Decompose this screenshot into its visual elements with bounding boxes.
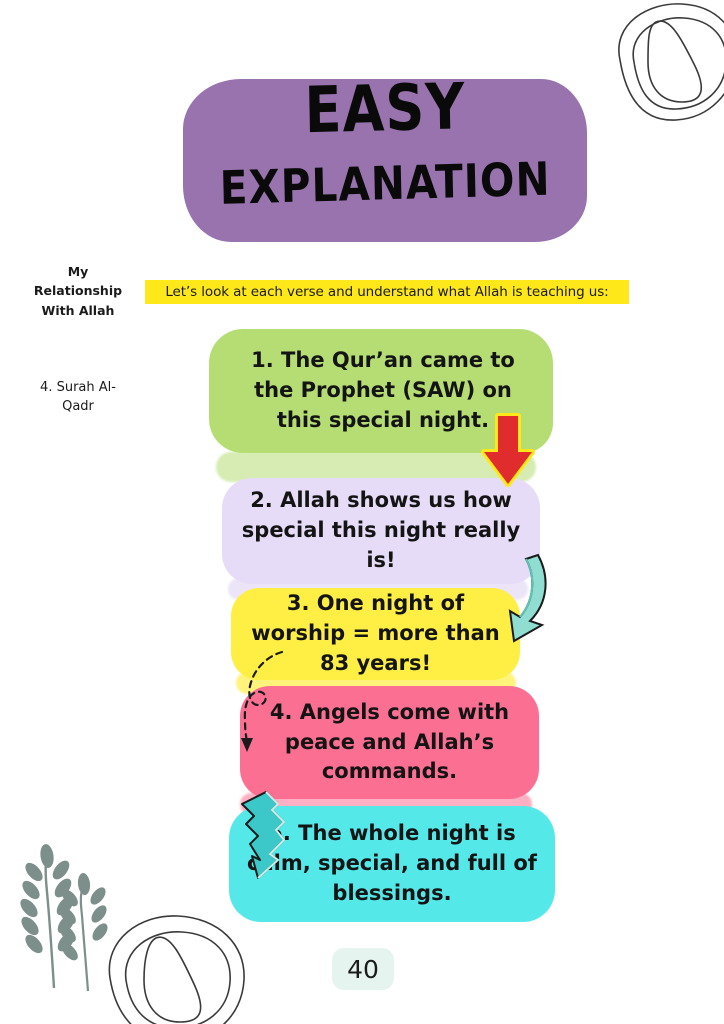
statement-card-2-text: 2. Allah shows us how special this night… bbox=[240, 486, 522, 575]
statement-card-4: 4. Angels come with peace and Allah’s co… bbox=[240, 686, 539, 799]
intro-highlight-text: Let’s look at each verse and understand … bbox=[145, 280, 629, 304]
sidebar-chapter-line-1: 4. Surah Al- bbox=[14, 379, 142, 398]
sidebar-brand-line-3: With Allah bbox=[14, 301, 142, 320]
statement-card-5-text: 5. The whole night is calm, special, and… bbox=[247, 819, 537, 908]
sidebar-brand-line-1: My bbox=[14, 262, 142, 281]
page-number-badge: 40 bbox=[332, 948, 394, 990]
worksheet-page: EASY explanation My Relationship With Al… bbox=[0, 0, 724, 1024]
statement-card-3-text: 3. One night of worship = more than 83 y… bbox=[249, 589, 502, 678]
statement-card-2: 2. Allah shows us how special this night… bbox=[222, 478, 540, 584]
statement-card-3: 3. One night of worship = more than 83 y… bbox=[231, 588, 520, 680]
sidebar-brand-label: My Relationship With Allah bbox=[14, 262, 142, 320]
page-title: EASY explanation bbox=[150, 84, 620, 203]
sidebar-chapter-label: 4. Surah Al- Qadr bbox=[14, 379, 142, 417]
statement-card-4-text: 4. Angels come with peace and Allah’s co… bbox=[258, 698, 521, 787]
leaf-sprigs-icon bbox=[6, 836, 136, 1000]
statement-card-1-text: 1. The Qur’an came to the Prophet (SAW) … bbox=[227, 346, 535, 435]
pebble-doodle-bottom-left-icon bbox=[96, 904, 256, 1024]
sidebar-brand-line-2: Relationship bbox=[14, 281, 142, 300]
sidebar-chapter-line-2: Qadr bbox=[14, 398, 142, 417]
statement-card-5: 5. The whole night is calm, special, and… bbox=[229, 806, 555, 922]
page-title-line-1: EASY bbox=[150, 74, 621, 144]
statement-card-1: 1. The Qur’an came to the Prophet (SAW) … bbox=[209, 329, 553, 453]
